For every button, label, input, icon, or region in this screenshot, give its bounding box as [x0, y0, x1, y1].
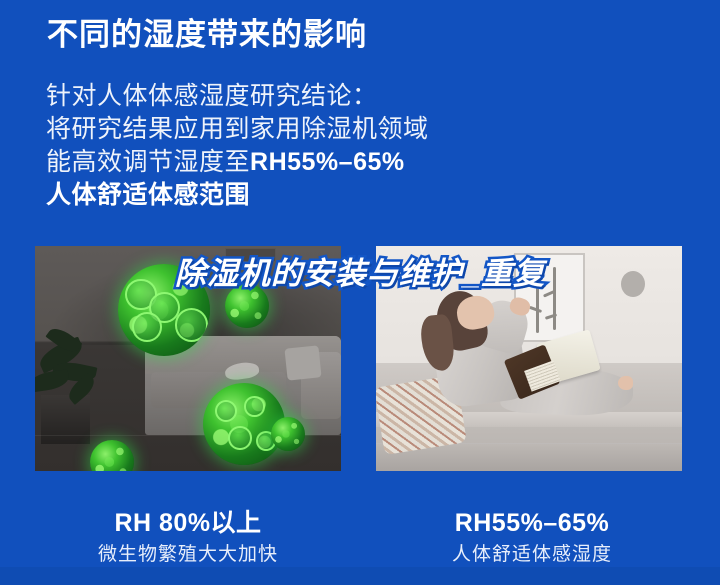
caption-left-main: RH 80%以上 [28, 508, 348, 538]
left-plant-leaf [35, 369, 70, 392]
body-line-1: 针对人体体感湿度研究结论： [46, 80, 666, 113]
left-plant-pot [41, 395, 90, 445]
left-room-scene [35, 246, 341, 471]
body-line-3: 能高效调节湿度至RH55%–65% [46, 146, 666, 179]
caption-right-sub: 人体舒适体感湿度 [372, 543, 692, 567]
right-person-foot [618, 376, 633, 390]
caption-left: RH 80%以上 微生物繁殖大大加快 [28, 508, 348, 567]
microbe-icon [90, 440, 134, 472]
caption-left-sub: 微生物繁殖大大加快 [28, 543, 348, 567]
microbe-icon [271, 417, 305, 451]
right-room-scene [376, 246, 682, 471]
bottom-strip [0, 567, 720, 585]
body-line-3-value: RH55%–65% [250, 148, 405, 176]
poster-root: 不同的湿度带来的影响 针对人体体感湿度研究结论： 将研究结果应用到家用除湿机领域… [0, 0, 720, 585]
right-person [413, 296, 633, 436]
caption-right: RH55%–65% 人体舒适体感湿度 [372, 508, 692, 567]
left-wall-frame-icon [225, 248, 276, 261]
body-line-2: 将研究结果应用到家用除湿机领域 [46, 113, 666, 146]
right-person-hair [419, 314, 456, 373]
microbe-icon [225, 284, 269, 328]
body-copy: 针对人体体感湿度研究结论： 将研究结果应用到家用除湿机领域 能高效调节湿度至RH… [46, 80, 666, 212]
body-line-3-head: 能高效调节湿度至 [46, 148, 250, 176]
right-wall-ornament-icon [621, 271, 645, 297]
microbe-icon [118, 264, 210, 356]
photo-panel-right [376, 246, 682, 471]
caption-right-main: RH55%–65% [372, 508, 692, 538]
body-line-4: 人体舒适体感范围 [46, 179, 666, 212]
page-title: 不同的湿度带来的影响 [47, 16, 367, 55]
photo-panel-left [35, 246, 341, 471]
left-pillow [284, 346, 321, 381]
